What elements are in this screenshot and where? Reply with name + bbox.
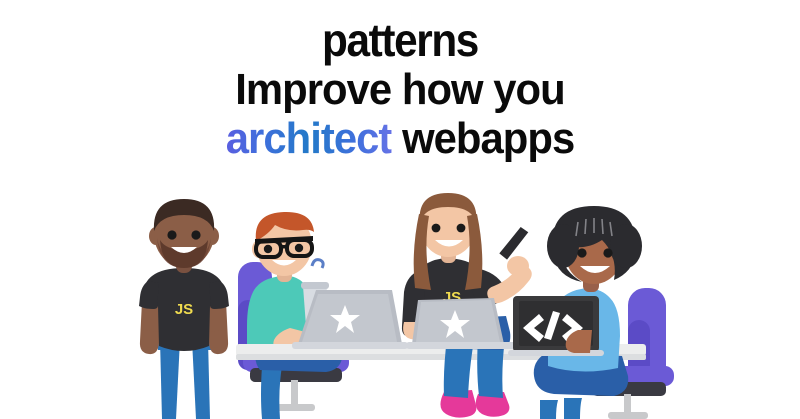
- tagline-line-1: Improve how you: [20, 64, 780, 116]
- tagline-line-2-rest: webapps: [391, 114, 574, 163]
- poster-canvas: JS: [0, 0, 800, 419]
- headline-block: patterns Improve how you architect webap…: [0, 0, 800, 165]
- jeans-left: [160, 340, 180, 419]
- eye-left-2: [264, 245, 272, 253]
- straw: [312, 260, 323, 268]
- character-standing-developer: JS: [139, 199, 229, 419]
- jeans-2: [261, 366, 282, 419]
- highlight-word-architect: architect: [226, 114, 392, 163]
- pen: [497, 226, 531, 260]
- jeans-right: [192, 340, 210, 419]
- tablet-code: [508, 296, 604, 356]
- hand-3: [507, 256, 529, 276]
- tagline-line-2: architect webapps: [20, 113, 780, 165]
- eye-right-3: [457, 224, 466, 233]
- eye-right-4: [603, 248, 612, 257]
- eye-left-4: [577, 248, 586, 257]
- eye-left-3: [432, 224, 441, 233]
- js-logo-shirt-1: JS: [175, 301, 193, 318]
- laptop-center: [406, 298, 516, 349]
- brand-title: patterns: [32, 0, 768, 64]
- eye-right-1: [191, 230, 200, 239]
- eye-left-1: [167, 230, 176, 239]
- eye-right-2: [295, 244, 303, 252]
